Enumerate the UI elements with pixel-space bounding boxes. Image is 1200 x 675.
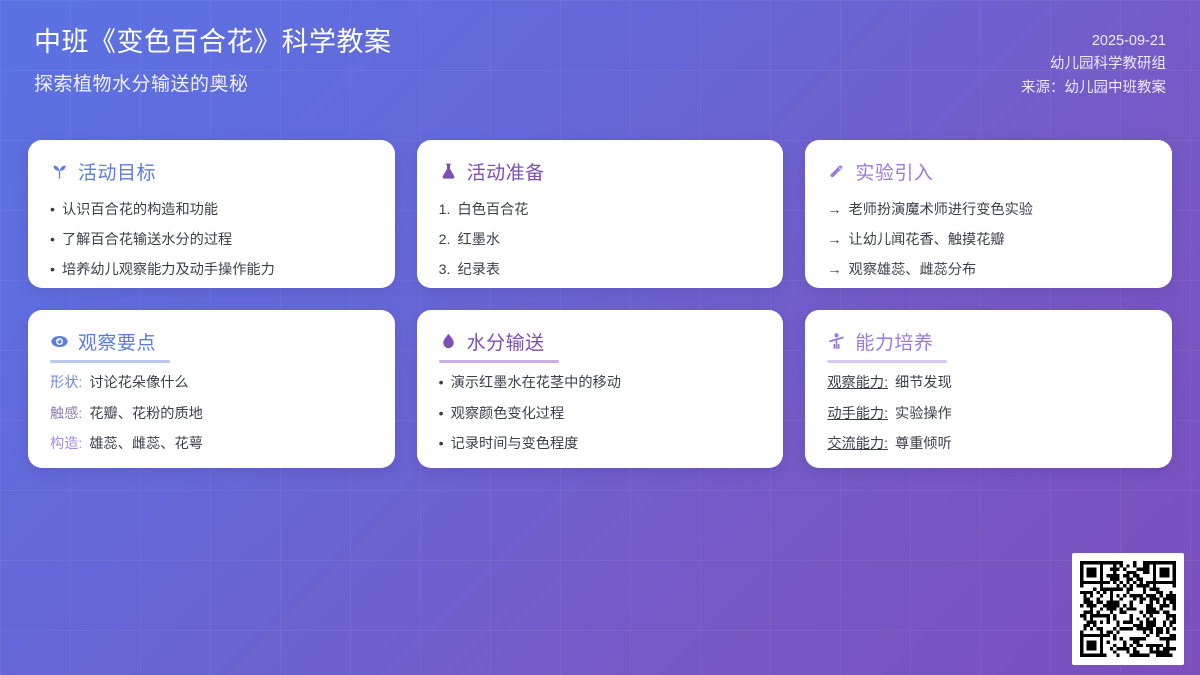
header-meta: 2025-09-21 幼儿园科学教研组 来源：幼儿园中班教案	[1021, 26, 1166, 100]
card-title: 活动准备	[467, 158, 545, 185]
list-item-text: 让幼儿闻花香、触摸花瓣	[849, 231, 1005, 250]
list-item-text: 纪录表	[458, 261, 501, 280]
list-item: •记录时间与变色程度	[439, 435, 762, 454]
slide-page: 中班《变色百合花》科学教案 探索植物水分输送的奥秘 2025-09-21 幼儿园…	[0, 0, 1200, 675]
list-item: 3.纪录表	[439, 261, 762, 280]
list-marker: →	[827, 231, 841, 250]
title-underline	[827, 360, 947, 363]
header-date: 2025-09-21	[1021, 30, 1166, 53]
card-活动目标: 活动目标•认识百合花的构造和功能•了解百合花输送水分的过程•培养幼儿观察能力及动…	[28, 140, 395, 288]
title-underline	[50, 360, 170, 363]
card-title: 活动目标	[78, 158, 156, 185]
card-能力培养: 能力培养观察能力:细节发现动手能力:实验操作交流能力:尊重倾听	[805, 310, 1172, 468]
card-title: 能力培养	[855, 328, 933, 355]
list-item: 触感:花瓣、花粉的质地	[50, 405, 373, 424]
list-marker: •	[50, 201, 55, 220]
list-item-text: 尊重倾听	[895, 435, 952, 454]
list-item-text: 实验操作	[895, 405, 952, 424]
list-item: •演示红墨水在花茎中的移动	[439, 374, 762, 393]
page-header: 中班《变色百合花》科学教案 探索植物水分输送的奥秘 2025-09-21 幼儿园…	[0, 0, 1200, 122]
card-body: 1.白色百合花2.红墨水3.纪录表	[439, 201, 762, 281]
list-item: •了解百合花输送水分的过程	[50, 231, 373, 250]
list-marker: →	[827, 261, 841, 280]
list-item-text: 细节发现	[895, 374, 952, 393]
card-活动准备: 活动准备1.白色百合花2.红墨水3.纪录表	[417, 140, 784, 288]
list-item-text: 了解百合花输送水分的过程	[62, 231, 232, 250]
card-title: 实验引入	[855, 158, 933, 185]
card-水分输送: 水分输送•演示红墨水在花茎中的移动•观察颜色变化过程•记录时间与变色程度	[417, 310, 784, 468]
list-item-term: 触感:	[50, 405, 82, 424]
list-marker: 2.	[439, 231, 451, 250]
list-marker: 1.	[439, 201, 451, 220]
list-item: 交流能力:尊重倾听	[827, 435, 1150, 454]
magic-wand-icon	[827, 162, 846, 181]
card-header: 水分输送	[439, 328, 762, 355]
list-item: 动手能力:实验操作	[827, 405, 1150, 424]
flask-icon	[439, 162, 458, 181]
list-marker: •	[439, 374, 444, 393]
list-item-text: 认识百合花的构造和功能	[62, 201, 218, 220]
card-title: 水分输送	[467, 328, 545, 355]
list-marker: →	[827, 201, 841, 220]
list-marker: •	[439, 435, 444, 454]
header-org: 幼儿园科学教研组	[1021, 53, 1166, 76]
list-item-term: 动手能力:	[827, 405, 888, 424]
list-item-text: 白色百合花	[458, 201, 529, 220]
page-subtitle: 探索植物水分输送的奥秘	[34, 69, 392, 96]
header-left: 中班《变色百合花》科学教案 探索植物水分输送的奥秘	[34, 26, 392, 96]
list-marker: 3.	[439, 261, 451, 280]
card-实验引入: 实验引入→老师扮演魔术师进行变色实验→让幼儿闻花香、触摸花瓣→观察雄蕊、雌蕊分布	[805, 140, 1172, 288]
list-item-term: 交流能力:	[827, 435, 888, 454]
list-item: •观察颜色变化过程	[439, 405, 762, 424]
card-body: •演示红墨水在花茎中的移动•观察颜色变化过程•记录时间与变色程度	[439, 374, 762, 454]
card-header: 观察要点	[50, 328, 373, 355]
page-title: 中班《变色百合花》科学教案	[34, 26, 392, 60]
seedling-icon	[50, 162, 69, 181]
list-item: →让幼儿闻花香、触摸花瓣	[827, 231, 1150, 250]
card-body: →老师扮演魔术师进行变色实验→让幼儿闻花香、触摸花瓣→观察雄蕊、雌蕊分布	[827, 201, 1150, 281]
list-item-text: 观察雄蕊、雌蕊分布	[849, 261, 977, 280]
list-item-text: 花瓣、花粉的质地	[89, 405, 203, 424]
eye-icon	[50, 332, 69, 351]
qr-code[interactable]	[1072, 553, 1184, 665]
list-item: 1.白色百合花	[439, 201, 762, 220]
list-item-text: 记录时间与变色程度	[451, 435, 579, 454]
list-item-text: 观察颜色变化过程	[451, 405, 565, 424]
list-item: →老师扮演魔术师进行变色实验	[827, 201, 1150, 220]
list-item-text: 培养幼儿观察能力及动手操作能力	[62, 261, 275, 280]
list-item: 形状:讨论花朵像什么	[50, 374, 373, 393]
list-marker: •	[439, 405, 444, 424]
list-item: •认识百合花的构造和功能	[50, 201, 373, 220]
list-item-term: 形状:	[50, 374, 82, 393]
person-icon	[827, 332, 846, 351]
card-header: 活动目标	[50, 158, 373, 185]
card-body: 形状:讨论花朵像什么触感:花瓣、花粉的质地构造:雄蕊、雌蕊、花萼	[50, 374, 373, 454]
list-marker: •	[50, 231, 55, 250]
card-观察要点: 观察要点形状:讨论花朵像什么触感:花瓣、花粉的质地构造:雄蕊、雌蕊、花萼	[28, 310, 395, 468]
card-header: 实验引入	[827, 158, 1150, 185]
card-body: 观察能力:细节发现动手能力:实验操作交流能力:尊重倾听	[827, 374, 1150, 454]
list-item: 构造:雄蕊、雌蕊、花萼	[50, 435, 373, 454]
list-item: 2.红墨水	[439, 231, 762, 250]
card-header: 能力培养	[827, 328, 1150, 355]
card-header: 活动准备	[439, 158, 762, 185]
list-item: •培养幼儿观察能力及动手操作能力	[50, 261, 373, 280]
list-item: 观察能力:细节发现	[827, 374, 1150, 393]
list-item-text: 雄蕊、雌蕊、花萼	[89, 435, 203, 454]
list-item-term: 构造:	[50, 435, 82, 454]
card-grid: 活动目标•认识百合花的构造和功能•了解百合花输送水分的过程•培养幼儿观察能力及动…	[28, 140, 1172, 468]
water-drop-icon	[439, 332, 458, 351]
title-underline	[439, 360, 559, 363]
list-item-text: 老师扮演魔术师进行变色实验	[849, 201, 1033, 220]
list-item-term: 观察能力:	[827, 374, 888, 393]
list-item-text: 讨论花朵像什么	[89, 374, 188, 393]
list-item-text: 演示红墨水在花茎中的移动	[451, 374, 621, 393]
list-item-text: 红墨水	[458, 231, 501, 250]
card-body: •认识百合花的构造和功能•了解百合花输送水分的过程•培养幼儿观察能力及动手操作能…	[50, 201, 373, 281]
header-source: 来源：幼儿园中班教案	[1021, 77, 1166, 100]
list-marker: •	[50, 261, 55, 280]
qr-code-image	[1080, 561, 1176, 657]
card-title: 观察要点	[78, 328, 156, 355]
list-item: →观察雄蕊、雌蕊分布	[827, 261, 1150, 280]
